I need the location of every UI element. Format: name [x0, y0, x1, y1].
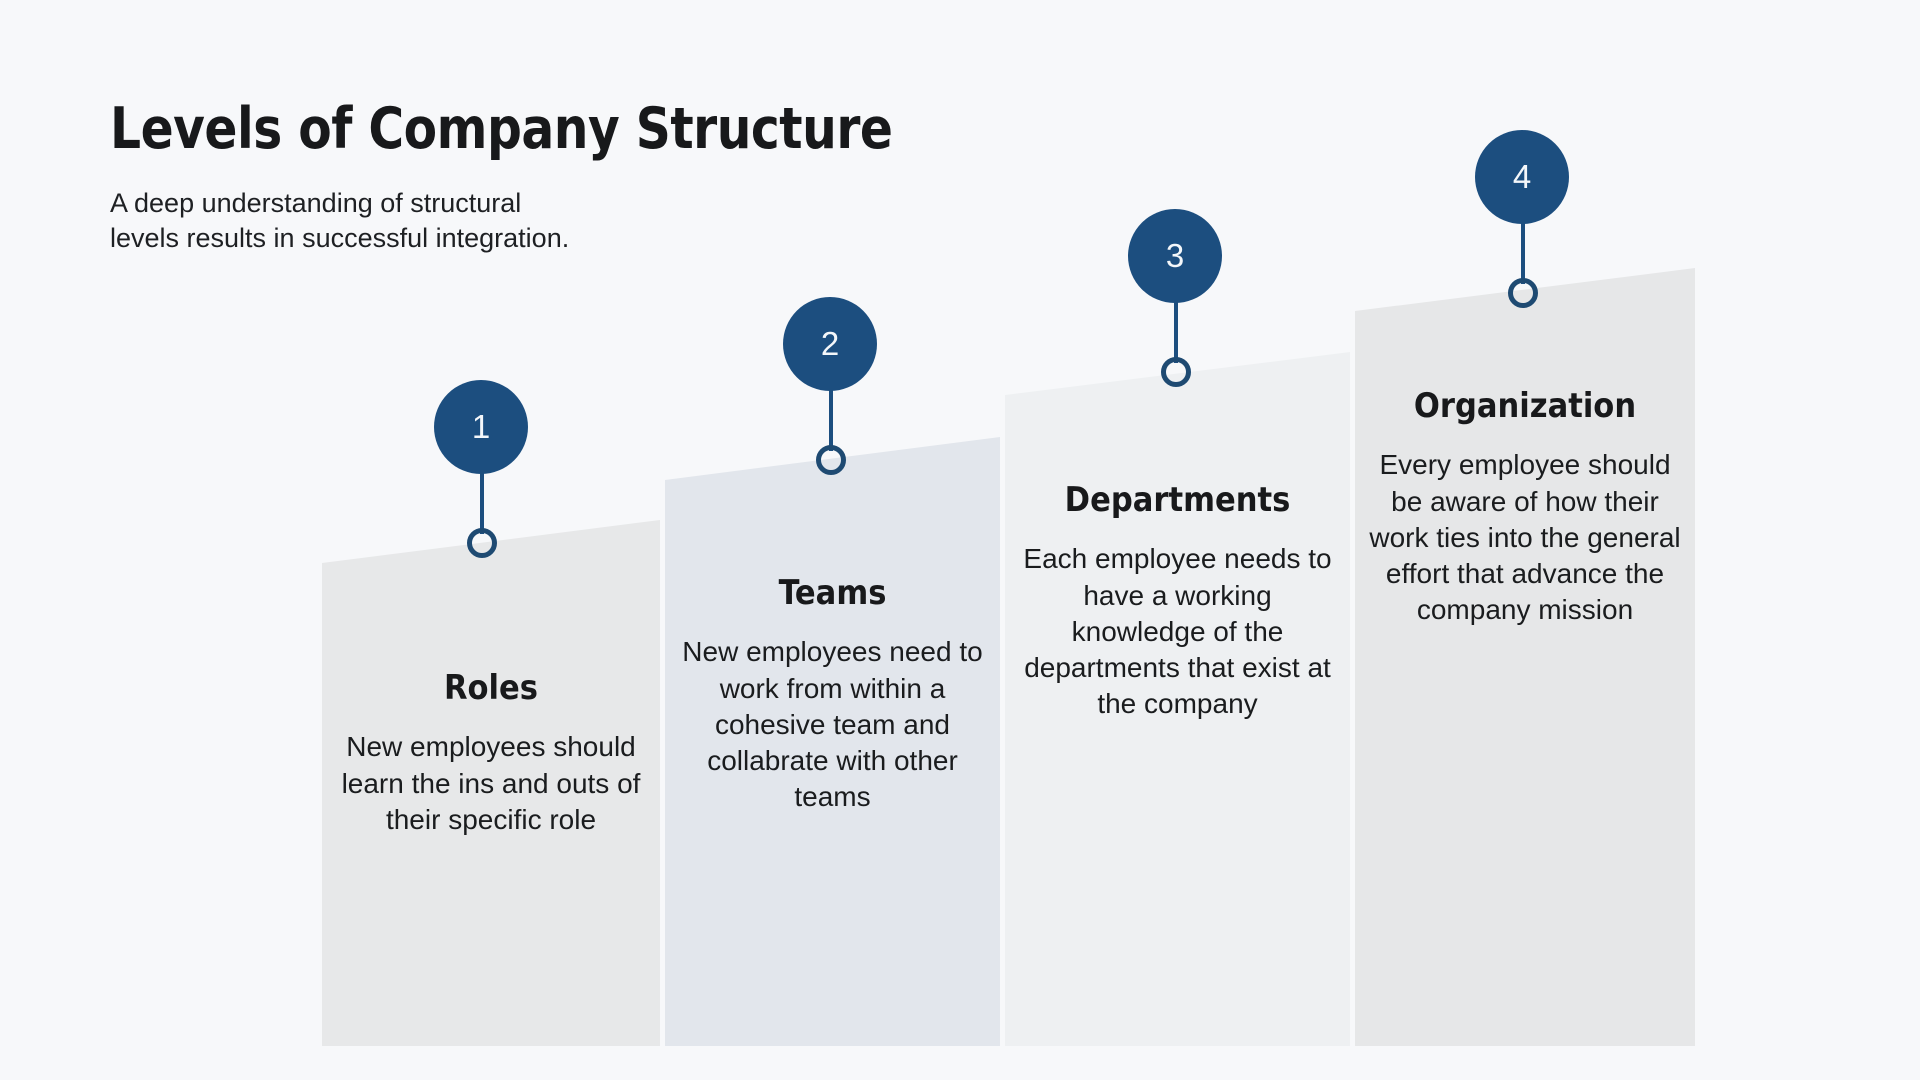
level-column-teams[interactable]: Teams New employees need to work from wi… — [665, 437, 1000, 1046]
level-marker-2-ring — [816, 445, 846, 475]
level-heading-teams: Teams — [679, 575, 986, 612]
level-marker-4-stem — [1521, 222, 1525, 284]
level-marker-1-stem — [480, 472, 484, 534]
level-text-roles: Roles New employees should learn the ins… — [322, 670, 660, 838]
level-marker-1-ring — [467, 528, 497, 558]
level-column-departments[interactable]: Departments Each employee needs to have … — [1005, 352, 1350, 1046]
level-heading-roles: Roles — [336, 670, 646, 707]
level-marker-1-number: 1 — [434, 380, 528, 474]
level-marker-3-stem — [1174, 301, 1178, 363]
level-text-teams: Teams New employees need to work from wi… — [665, 575, 1000, 815]
level-marker-3-ring — [1161, 357, 1191, 387]
level-column-organization[interactable]: Organization Every employee should be aw… — [1355, 268, 1695, 1046]
level-marker-2-stem — [829, 389, 833, 451]
level-marker-4-number: 4 — [1475, 130, 1569, 224]
level-text-departments: Departments Each employee needs to have … — [1005, 482, 1350, 722]
staircase-chart: Roles New employees should learn the ins… — [0, 0, 1920, 1080]
level-marker-3-number: 3 — [1128, 209, 1222, 303]
level-description-departments: Each employee needs to have a working kn… — [1019, 541, 1336, 722]
level-description-teams: New employees need to work from within a… — [679, 634, 986, 815]
level-description-roles: New employees should learn the ins and o… — [336, 729, 646, 837]
level-marker-4-ring — [1508, 278, 1538, 308]
level-marker-2-number: 2 — [783, 297, 877, 391]
level-heading-organization: Organization — [1369, 388, 1681, 425]
level-column-roles[interactable]: Roles New employees should learn the ins… — [322, 520, 660, 1046]
level-heading-departments: Departments — [1019, 482, 1336, 519]
level-text-organization: Organization Every employee should be aw… — [1355, 388, 1695, 628]
level-description-organization: Every employee should be aware of how th… — [1369, 447, 1681, 628]
level-bar-organization — [1355, 268, 1695, 1046]
